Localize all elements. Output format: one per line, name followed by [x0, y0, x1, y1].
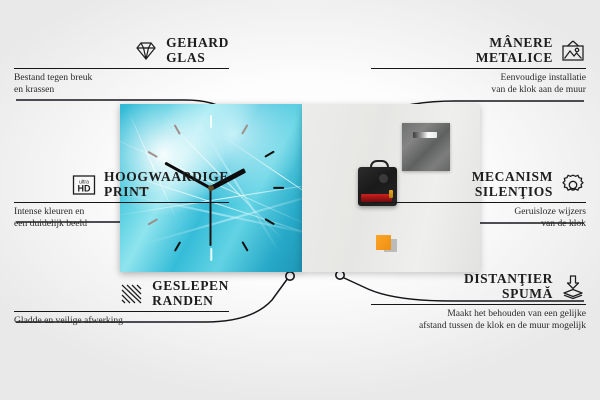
ultra-hd-icon: ultra HD [71, 172, 97, 198]
feature-description: Maakt het behouden van een gelijke afsta… [371, 308, 586, 331]
feature-description: Geruisloze wijzers van de klok [371, 206, 586, 229]
foam-spacer-pad [376, 235, 391, 250]
feature-title: MECANISM SILENŢIOS [472, 170, 553, 199]
metal-hanger-plate [402, 123, 450, 171]
feature-header: DISTANŢIER SPUMĂ [371, 272, 586, 301]
connector-node-spacer [336, 271, 344, 279]
feature-header: GEHARD GLAS [14, 36, 229, 65]
feature-header: GESLEPEN RANDEN [14, 279, 229, 308]
feature-title: GESLEPEN RANDEN [152, 279, 229, 308]
infographic-canvas: GEHARD GLAS Bestand tegen breuk en krass… [0, 0, 600, 400]
feature-divider [371, 202, 586, 203]
feature-description: Bestand tegen breuk en krassen [14, 72, 229, 95]
feature-divider [371, 68, 586, 69]
feature-divider [14, 311, 229, 312]
feature-hd-print: ultra HD HOOGWAARDIGE PRINT Intense kleu… [14, 170, 229, 229]
feature-description: Intense kleuren en een duidelijk beeld [14, 206, 229, 229]
hatched-edge-icon [119, 281, 145, 307]
feature-description: Eenvoudige installatie van de klok aan d… [371, 72, 586, 95]
feature-title: HOOGWAARDIGE PRINT [104, 170, 229, 199]
feature-title: DISTANŢIER SPUMĂ [464, 272, 553, 301]
connector-node-edges [286, 272, 294, 280]
feature-title: MÂNERE METALICE [476, 36, 553, 65]
feature-header: ultra HD HOOGWAARDIGE PRINT [14, 170, 229, 199]
feature-divider [371, 304, 586, 305]
feature-header: MECANISM SILENŢIOS [371, 170, 586, 199]
svg-text:HD: HD [78, 183, 91, 193]
feature-description: Gladde en veilige afwerking [14, 315, 229, 326]
press-down-pad-icon [560, 274, 586, 300]
feature-divider [14, 68, 229, 69]
gear-icon [560, 172, 586, 198]
feature-tempered-glass: GEHARD GLAS Bestand tegen breuk en krass… [14, 36, 229, 95]
feature-header: MÂNERE METALICE [371, 36, 586, 65]
feature-ground-edges: GESLEPEN RANDEN Gladde en veilige afwerk… [14, 279, 229, 327]
feature-silent-mechanism: MECANISM SILENŢIOS Geruisloze wijzers va… [371, 170, 586, 229]
feature-foam-spacer: DISTANŢIER SPUMĂ Maakt het behouden van … [371, 272, 586, 331]
feature-title: GEHARD GLAS [166, 36, 229, 65]
feature-divider [14, 202, 229, 203]
feature-metal-hooks: MÂNERE METALICE Eenvoudige installatie v… [371, 36, 586, 95]
picture-hanger-icon [560, 38, 586, 64]
hanger-keyhole-slot [413, 132, 437, 138]
diamond-icon [133, 38, 159, 64]
